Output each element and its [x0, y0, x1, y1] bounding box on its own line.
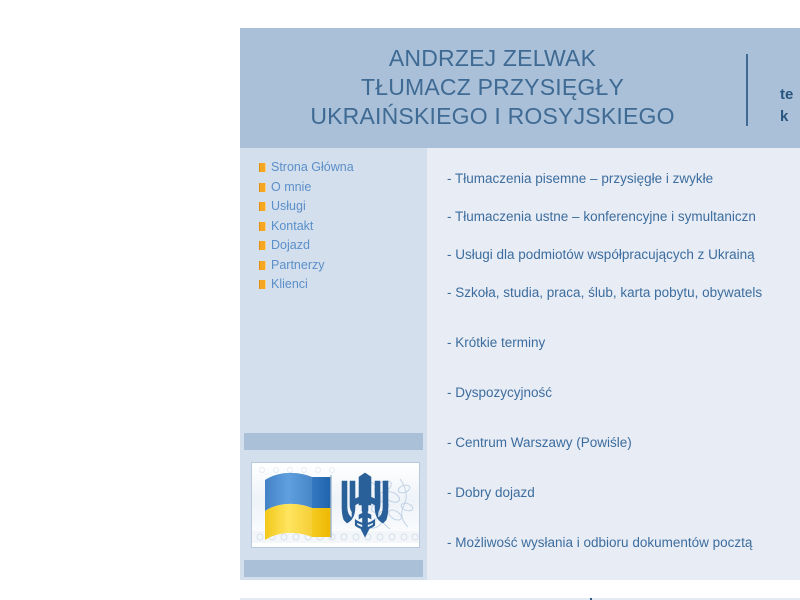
bullet-icon [259, 163, 266, 172]
header-vertical-divider [746, 54, 748, 126]
spacer [447, 187, 800, 208]
sidebar-separator-top [244, 433, 423, 450]
main-navigation: Strona Główna O mnie Usługi Kontakt [240, 148, 427, 294]
sidebar-item-label[interactable]: O mnie [271, 180, 311, 194]
browser-viewport: ANDRZEJ ZELWAK TŁUMACZ PRZYSIĘGŁY UKRAIŃ… [0, 0, 800, 600]
spacer [447, 351, 800, 384]
spacer [447, 501, 800, 534]
spacer [447, 263, 800, 284]
main-content: - Tłumaczenia pisemne – przysięgłe i zwy… [427, 148, 800, 580]
site-header: ANDRZEJ ZELWAK TŁUMACZ PRZYSIĘGŁY UKRAIŃ… [240, 28, 800, 148]
sidebar-item-dojazd[interactable]: Dojazd [240, 235, 427, 255]
header-contact-line-1: te [780, 84, 793, 106]
bullet-icon [259, 241, 266, 250]
site-container: ANDRZEJ ZELWAK TŁUMACZ PRZYSIĘGŁY UKRAIŃ… [240, 28, 800, 600]
service-line: - Szkoła, studia, praca, ślub, karta pob… [447, 284, 800, 301]
service-line: - Krótkie terminy [447, 334, 800, 351]
service-line: - Możliwość wysłania i odbioru dokumentó… [447, 534, 800, 551]
service-line: - Tłumaczenia pisemne – przysięgłe i zwy… [447, 170, 800, 187]
sidebar-item-label[interactable]: Kontakt [271, 219, 313, 233]
ukraine-flag-tryzub-graphic [252, 463, 419, 547]
site-title-line-2: TŁUMACZ PRZYSIĘGŁY [240, 73, 745, 102]
service-line: - Centrum Warszawy (Powiśle) [447, 434, 800, 451]
footer-spacer [240, 580, 800, 598]
bullet-icon [259, 222, 266, 231]
service-line: - Tłumaczenia ustne – konferencyjne i sy… [447, 208, 800, 225]
sidebar-item-partnerzy[interactable]: Partnerzy [240, 255, 427, 275]
bullet-icon [259, 202, 266, 211]
sidebar-item-label[interactable]: Partnerzy [271, 258, 325, 272]
sidebar-item-label[interactable]: Strona Główna [271, 160, 354, 174]
spacer [447, 451, 800, 484]
bullet-icon [259, 183, 266, 192]
sidebar-item-strona-glowna[interactable]: Strona Główna [240, 157, 427, 177]
bullet-icon [259, 280, 266, 289]
sidebar: Strona Główna O mnie Usługi Kontakt [240, 148, 427, 580]
sidebar-item-label[interactable]: Klienci [271, 277, 308, 291]
site-title-line-1: ANDRZEJ ZELWAK [240, 44, 745, 73]
service-line: - Dobry dojazd [447, 484, 800, 501]
sidebar-item-label[interactable]: Dojazd [271, 238, 310, 252]
ukraine-flag-tryzub-image [251, 462, 420, 548]
page-body: Strona Główna O mnie Usługi Kontakt [240, 148, 800, 580]
service-line: - Dyspozycyjność [447, 384, 800, 401]
spacer [447, 401, 800, 434]
sidebar-separator-bottom [244, 560, 423, 577]
sidebar-item-uslugi[interactable]: Usługi [240, 196, 427, 216]
sidebar-item-label[interactable]: Usługi [271, 199, 306, 213]
site-title-line-3: UKRAIŃSKIEGO I ROSYJSKIEGO [240, 102, 745, 131]
sidebar-item-o-mnie[interactable]: O mnie [240, 177, 427, 197]
header-contact-line-2: k [780, 106, 793, 128]
sidebar-item-kontakt[interactable]: Kontakt [240, 216, 427, 236]
service-line: - Usługi dla podmiotów współpracujących … [447, 246, 800, 263]
header-contact-block: te k [780, 84, 793, 128]
bullet-icon [259, 261, 266, 270]
spacer [447, 301, 800, 334]
spacer [447, 225, 800, 246]
sidebar-item-klienci[interactable]: Klienci [240, 274, 427, 294]
site-title: ANDRZEJ ZELWAK TŁUMACZ PRZYSIĘGŁY UKRAIŃ… [240, 44, 745, 131]
